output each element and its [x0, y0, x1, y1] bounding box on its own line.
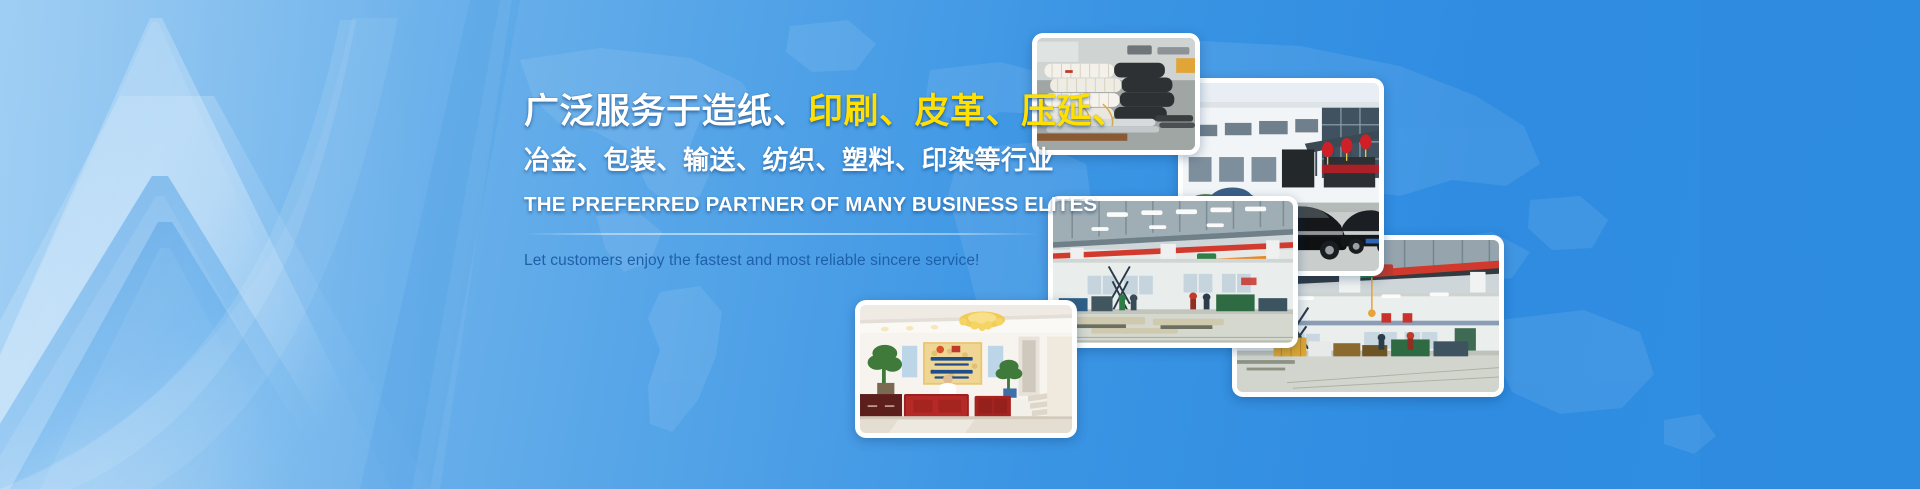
headline-primary-highlight: 印刷、皮革、压延、 [808, 92, 1128, 131]
photo-workshop-crane[interactable] [1048, 196, 1298, 348]
hero-banner: 广泛服务于造纸、印刷、皮革、压延、 冶金、包装、输送、纺织、塑料、印染等行业 T… [0, 0, 1920, 489]
photo-lobby-inner [860, 305, 1072, 433]
photo-reception-lobby[interactable] [855, 300, 1077, 438]
headline-secondary: 冶金、包装、输送、纺织、塑料、印染等行业 [524, 140, 1064, 177]
photo-plant1-inner [1053, 201, 1293, 343]
lobby-illustration [860, 305, 1072, 433]
headline-divider [524, 233, 1039, 235]
headline-primary-plain: 广泛服务于造纸、 [524, 92, 808, 131]
headline-english: THE PREFERRED PARTNER OF MANY BUSINESS E… [524, 193, 1064, 217]
headline-tagline: Let customers enjoy the fastest and most… [524, 252, 1064, 270]
workshop-illustration [1053, 201, 1293, 343]
hero-copy-block: 广泛服务于造纸、印刷、皮革、压延、 冶金、包装、输送、纺织、塑料、印染等行业 T… [524, 92, 1064, 270]
headline-primary: 广泛服务于造纸、印刷、皮革、压延、 [524, 92, 1064, 131]
